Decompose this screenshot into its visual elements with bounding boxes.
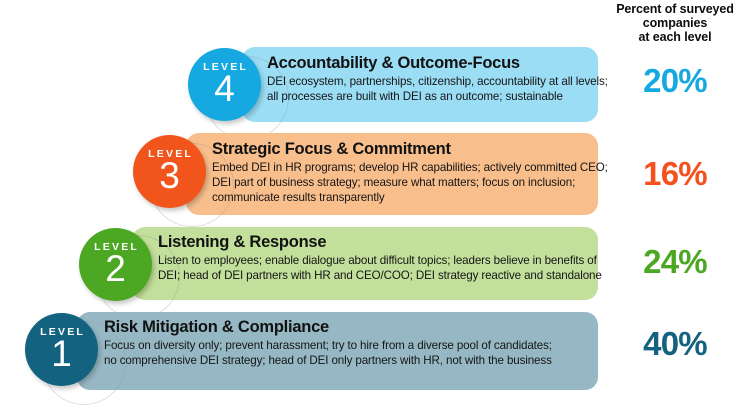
caption-line-3: at each level [600, 30, 750, 44]
level-text-3: Strategic Focus & Commitment Embed DEI i… [212, 139, 594, 206]
level-desc-line: Focus on diversity only; prevent harassm… [104, 338, 594, 353]
level-badge-number-1: 1 [51, 336, 72, 372]
dei-maturity-infographic: Percent of surveyed companies at each le… [0, 0, 750, 401]
level-desc-2: Listen to employees; enable dialogue abo… [158, 253, 594, 283]
level-desc-1: Focus on diversity only; prevent harassm… [104, 338, 594, 368]
caption-line-2: companies [600, 16, 750, 30]
level-desc-line: no comprehensive DEI strategy; head of D… [104, 353, 594, 368]
level-desc-line: all processes are built with DEI as an o… [267, 89, 592, 104]
level-title-2: Listening & Response [158, 232, 594, 252]
level-title-1: Risk Mitigation & Compliance [104, 317, 594, 337]
level-desc-line: communicate results transparently [212, 190, 594, 205]
level-badge-number-2: 2 [105, 251, 126, 287]
level-percent-4: 20% [600, 62, 750, 100]
level-text-2: Listening & Response Listen to employees… [158, 232, 594, 283]
percent-column-caption: Percent of surveyed companies at each le… [600, 2, 750, 45]
level-percent-2: 24% [600, 243, 750, 281]
level-percent-1: 40% [600, 325, 750, 363]
level-desc-line: DEI ecosystem, partnerships, citizenship… [267, 74, 592, 89]
level-desc-4: DEI ecosystem, partnerships, citizenship… [267, 74, 592, 104]
level-desc-line: DEI part of business strategy; measure w… [212, 175, 594, 190]
level-percent-3: 16% [600, 155, 750, 193]
level-badge-4: LEVEL 4 [188, 48, 261, 121]
level-badge-3: LEVEL 3 [133, 135, 206, 208]
level-badge-number-3: 3 [159, 158, 180, 194]
caption-line-1: Percent of surveyed [600, 2, 750, 16]
level-desc-line: Listen to employees; enable dialogue abo… [158, 253, 594, 268]
level-badge-number-4: 4 [214, 71, 235, 107]
level-title-3: Strategic Focus & Commitment [212, 139, 594, 159]
level-badge-2: LEVEL 2 [79, 228, 152, 301]
level-desc-line: DEI; head of DEI partners with HR and CE… [158, 268, 594, 283]
level-text-1: Risk Mitigation & Compliance Focus on di… [104, 317, 594, 368]
level-desc-3: Embed DEI in HR programs; develop HR cap… [212, 160, 594, 206]
level-title-4: Accountability & Outcome-Focus [267, 53, 592, 73]
level-text-4: Accountability & Outcome-Focus DEI ecosy… [267, 53, 592, 104]
level-badge-1: LEVEL 1 [25, 313, 98, 386]
level-desc-line: Embed DEI in HR programs; develop HR cap… [212, 160, 594, 175]
